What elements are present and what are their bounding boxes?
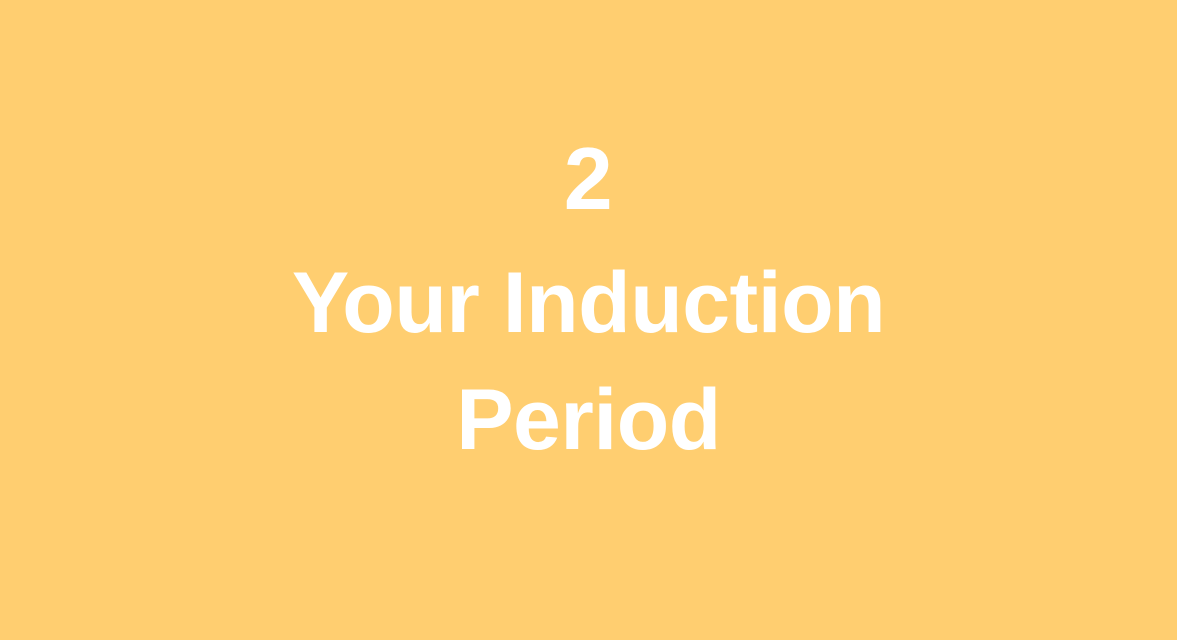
section-number: 2 (564, 135, 613, 223)
section-title-slide: 2 Your Induction Period (0, 0, 1177, 640)
title-block: 2 Your Induction Period (0, 135, 1177, 479)
section-heading: Your Induction Period (249, 245, 929, 479)
